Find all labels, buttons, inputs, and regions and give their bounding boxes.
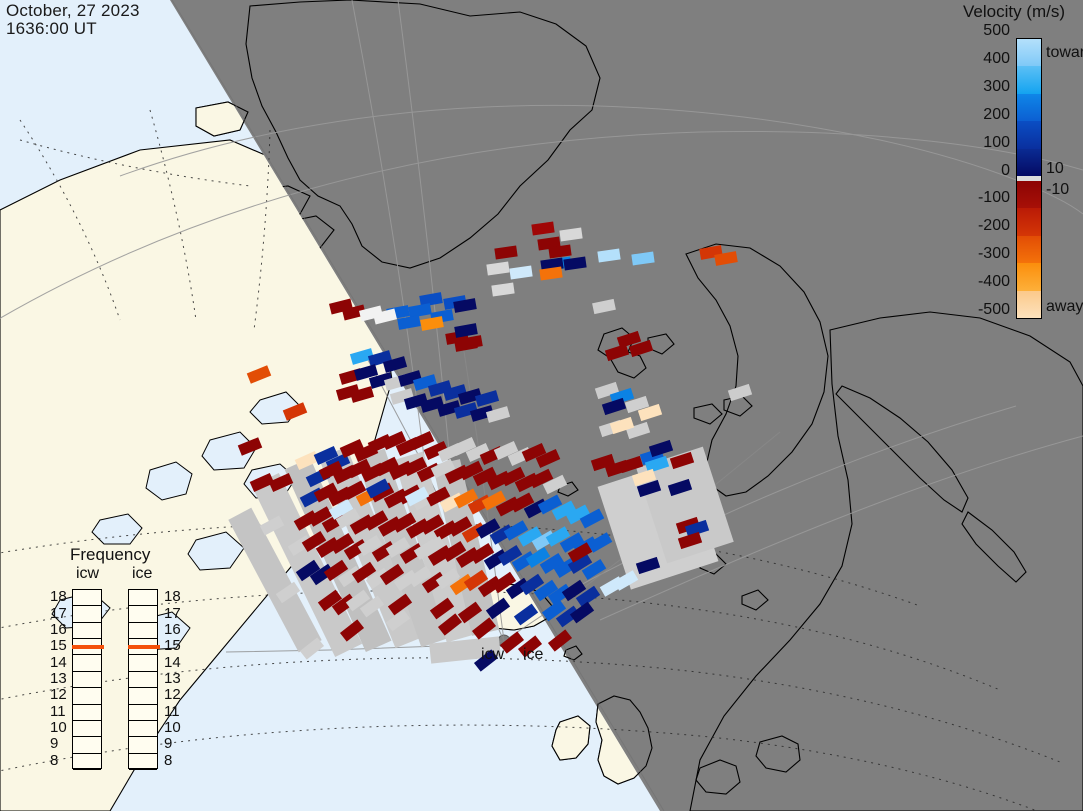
frequency-row	[129, 688, 157, 704]
site-label-ice: ice	[523, 646, 543, 664]
colorbar-zero-neg-label: -10	[1046, 181, 1069, 199]
frequency-row	[129, 606, 157, 622]
colorbar-band-8	[1017, 263, 1041, 291]
frequency-row	[129, 705, 157, 721]
colorbar-zero-gap	[1017, 176, 1041, 181]
frequency-row	[73, 754, 101, 770]
frequency-marker	[72, 645, 104, 649]
colorbar-tick-5: 0	[1001, 162, 1010, 180]
colorbar-band-0	[1017, 39, 1041, 67]
frequency-row	[73, 655, 101, 671]
colorbar-zero-pos-label: 10	[1046, 160, 1064, 178]
colorbar-band-2	[1017, 94, 1041, 122]
frequency-legend-title: Frequency	[70, 545, 150, 565]
frequency-scale-label-left: 17	[50, 605, 67, 622]
date-label: October, 27 2023	[6, 1, 140, 20]
colorbar-tick-3: 200	[983, 106, 1010, 124]
frequency-row	[73, 672, 101, 688]
frequency-scale-label-left: 10	[50, 719, 67, 736]
frequency-row	[129, 590, 157, 606]
frequency-column-label-icw: icw	[76, 565, 99, 583]
colorbar-band-5	[1017, 181, 1041, 209]
frequency-legend: Frequency icw ice 18171615141312111098 1…	[56, 545, 236, 785]
frequency-scale-label-right: 10	[164, 719, 181, 736]
frequency-column-label-ice: ice	[132, 565, 152, 583]
frequency-row	[129, 623, 157, 639]
frequency-row	[129, 655, 157, 671]
frequency-scale-label-left: 11	[50, 703, 66, 720]
frequency-scale-label-left: 14	[50, 654, 67, 671]
site-label-icw: icw	[481, 646, 504, 664]
frequency-scale-label-right: 17	[164, 605, 181, 622]
frequency-scale-label-right: 13	[164, 670, 181, 687]
frequency-row	[73, 606, 101, 622]
frequency-scale-label-right: 8	[164, 752, 172, 769]
timestamp-block: October, 27 20231636:00 UT	[6, 2, 140, 38]
frequency-scale-label-right: 9	[164, 735, 172, 752]
frequency-scale-label-right: 11	[164, 703, 180, 720]
colorbar-band-6	[1017, 208, 1041, 236]
frequency-scale-label-left: 16	[50, 621, 67, 638]
frequency-scale-label-left: 8	[50, 752, 58, 769]
frequency-scale-label-right: 15	[164, 637, 181, 654]
radar-velocity-map: October, 27 20231636:00 UT icw ice Veloc…	[0, 0, 1083, 811]
colorbar-tick-9: -400	[978, 273, 1010, 291]
velocity-colorbar	[1016, 38, 1042, 319]
colorbar-away-label: away	[1046, 298, 1083, 316]
colorbar-band-9	[1017, 291, 1041, 319]
frequency-scale-label-left: 18	[50, 588, 67, 605]
frequency-row	[73, 705, 101, 721]
frequency-scale-label-right: 12	[164, 686, 181, 703]
colorbar-band-1	[1017, 66, 1041, 94]
frequency-scale-label-left: 15	[50, 637, 67, 654]
frequency-row	[129, 672, 157, 688]
colorbar-band-3	[1017, 121, 1041, 149]
frequency-row	[129, 721, 157, 737]
colorbar-tick-10: -500	[978, 301, 1010, 319]
colorbar-toward-label: toward	[1046, 44, 1083, 62]
frequency-scale-label-right: 14	[164, 654, 181, 671]
frequency-bar-ice	[128, 589, 158, 769]
frequency-scale-label-left: 13	[50, 670, 67, 687]
frequency-scale-label-right: 18	[164, 588, 181, 605]
frequency-marker	[128, 645, 160, 649]
frequency-scale-label-left: 9	[50, 735, 58, 752]
colorbar-band-7	[1017, 236, 1041, 264]
colorbar-tick-4: 100	[983, 134, 1010, 152]
frequency-row	[129, 737, 157, 753]
frequency-row	[73, 688, 101, 704]
frequency-row	[73, 737, 101, 753]
colorbar-tick-labels: 5004003002001000-100-200-300-400-500	[930, 0, 1010, 330]
colorbar-band-4	[1017, 149, 1041, 176]
frequency-row	[73, 721, 101, 737]
frequency-scale-label-right: 16	[164, 621, 181, 638]
frequency-bar-icw	[72, 589, 102, 769]
frequency-scale-label-left: 12	[50, 686, 67, 703]
colorbar-tick-8: -300	[978, 245, 1010, 263]
frequency-row	[73, 590, 101, 606]
colorbar-tick-6: -100	[978, 189, 1010, 207]
colorbar-tick-0: 500	[983, 22, 1010, 40]
colorbar-tick-7: -200	[978, 217, 1010, 235]
frequency-row	[73, 623, 101, 639]
frequency-row	[129, 754, 157, 770]
time-label: 1636:00 UT	[6, 19, 97, 38]
colorbar-tick-2: 300	[983, 78, 1010, 96]
colorbar-tick-1: 400	[983, 50, 1010, 68]
